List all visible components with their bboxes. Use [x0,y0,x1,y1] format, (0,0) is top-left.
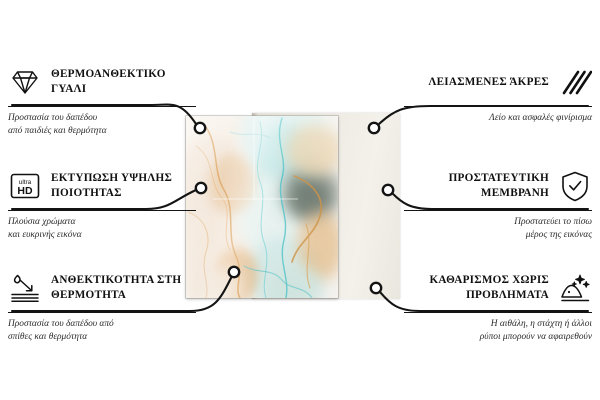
feature-title: ΕΚΤΥΠΩΣΗ ΥΨΗΛΗΣ ΠΟΙΟΤΗΤΑΣ [51,171,196,201]
ultra-hd-icon: ultra HD [8,169,42,203]
feature-right-protective-membrane: ΠΡΟΣΤΑΤΕΥΤΙΚΗ ΜΕΜΒΡΑΝΗ Προστατεύει το πί… [404,166,592,242]
diamond-icon [8,65,42,99]
feature-title: ΚΑΘΑΡΙΣΜΟΣ ΧΩΡΙΣ ΠΡΟΒΛΗΜΑΤΑ [404,273,549,303]
easy-clean-icon [558,271,592,305]
feature-title: ΘΕΡΜΟΑΝΘΕΚΤΙΚΟ ΓΥΑΛΙ [51,67,196,97]
feature-header: ΑΝΘΕΚΤΙΚΟΤΗΤΑ ΣΤΗ ΘΕΡΜΟΤΗΤΑ [8,268,196,308]
infographic-root: ΘΕΡΜΟΑΝΘΕΚΤΙΚΟ ΓΥΑΛΙ Προστασία του δαπέδ… [0,0,600,400]
glass-reflection [186,116,338,298]
heat-resistance-icon [8,271,42,305]
feature-header: ΠΡΟΣΤΑΤΕΥΤΙΚΗ ΜΕΜΒΡΑΝΗ [404,166,592,206]
feature-rule [404,210,592,211]
feature-header: ΛΕΙΑΣΜΕΝΕΣ ΆΚΡΕΣ [404,62,592,102]
feature-left-heat-resistant-glass: ΘΕΡΜΟΑΝΘΕΚΤΙΚΟ ΓΥΑΛΙ Προστασία του δαπέδ… [8,62,196,138]
feature-description: Λείο και ασφαλές φινίρισμα [404,112,592,125]
hd-label: HD [17,185,33,197]
shield-check-icon [558,169,592,203]
product-front-panel [186,116,338,298]
feature-description: Προστατεύει το πίσωμέρος της εικόνας [404,216,592,242]
feature-right-easy-cleaning: ΚΑΘΑΡΙΣΜΟΣ ΧΩΡΙΣ ΠΡΟΒΛΗΜΑΤΑ Η αιθάλη, η … [404,268,592,344]
feature-header: ultra HD ΕΚΤΥΠΩΣΗ ΥΨΗΛΗΣ ΠΟΙΟΤΗΤΑΣ [8,166,196,206]
feature-title: ΑΝΘΕΚΤΙΚΟΤΗΤΑ ΣΤΗ ΘΕΡΜΟΤΗΤΑ [51,273,196,303]
feature-description: Πλούσια χρώματακαι ευκρινής εικόνα [8,216,196,242]
feature-description: Η αιθάλη, η στάχτη ή άλλοιρύποι μπορούν … [404,318,592,344]
feature-rule [8,312,196,313]
feature-header: ΚΑΘΑΡΙΣΜΟΣ ΧΩΡΙΣ ΠΡΟΒΛΗΜΑΤΑ [404,268,592,308]
product-image [186,113,400,299]
feature-rule [8,210,196,211]
feature-rule [404,312,592,313]
feature-description: Προστασία του δαπέδουαπό παιδιές και θερ… [8,112,196,138]
feature-right-polished-edges: ΛΕΙΑΣΜΕΝΕΣ ΆΚΡΕΣ Λείο και ασφαλές φινίρι… [404,62,592,125]
feature-title: ΠΡΟΣΤΑΤΕΥΤΙΚΗ ΜΕΜΒΡΑΝΗ [404,171,549,201]
feature-left-high-quality-print: ultra HD ΕΚΤΥΠΩΣΗ ΥΨΗΛΗΣ ΠΟΙΟΤΗΤΑΣ Πλούσ… [8,166,196,242]
feature-left-heat-resistance: ΑΝΘΕΚΤΙΚΟΤΗΤΑ ΣΤΗ ΘΕΡΜΟΤΗΤΑ Προστασία το… [8,268,196,344]
feature-rule [404,106,592,107]
feature-description: Προστασία του δαπέδου απόσπίθες και θερμ… [8,318,196,344]
polished-edges-icon [558,65,592,99]
feature-rule [8,106,196,107]
feature-title: ΛΕΙΑΣΜΕΝΕΣ ΆΚΡΕΣ [428,75,549,90]
feature-header: ΘΕΡΜΟΑΝΘΕΚΤΙΚΟ ΓΥΑΛΙ [8,62,196,102]
